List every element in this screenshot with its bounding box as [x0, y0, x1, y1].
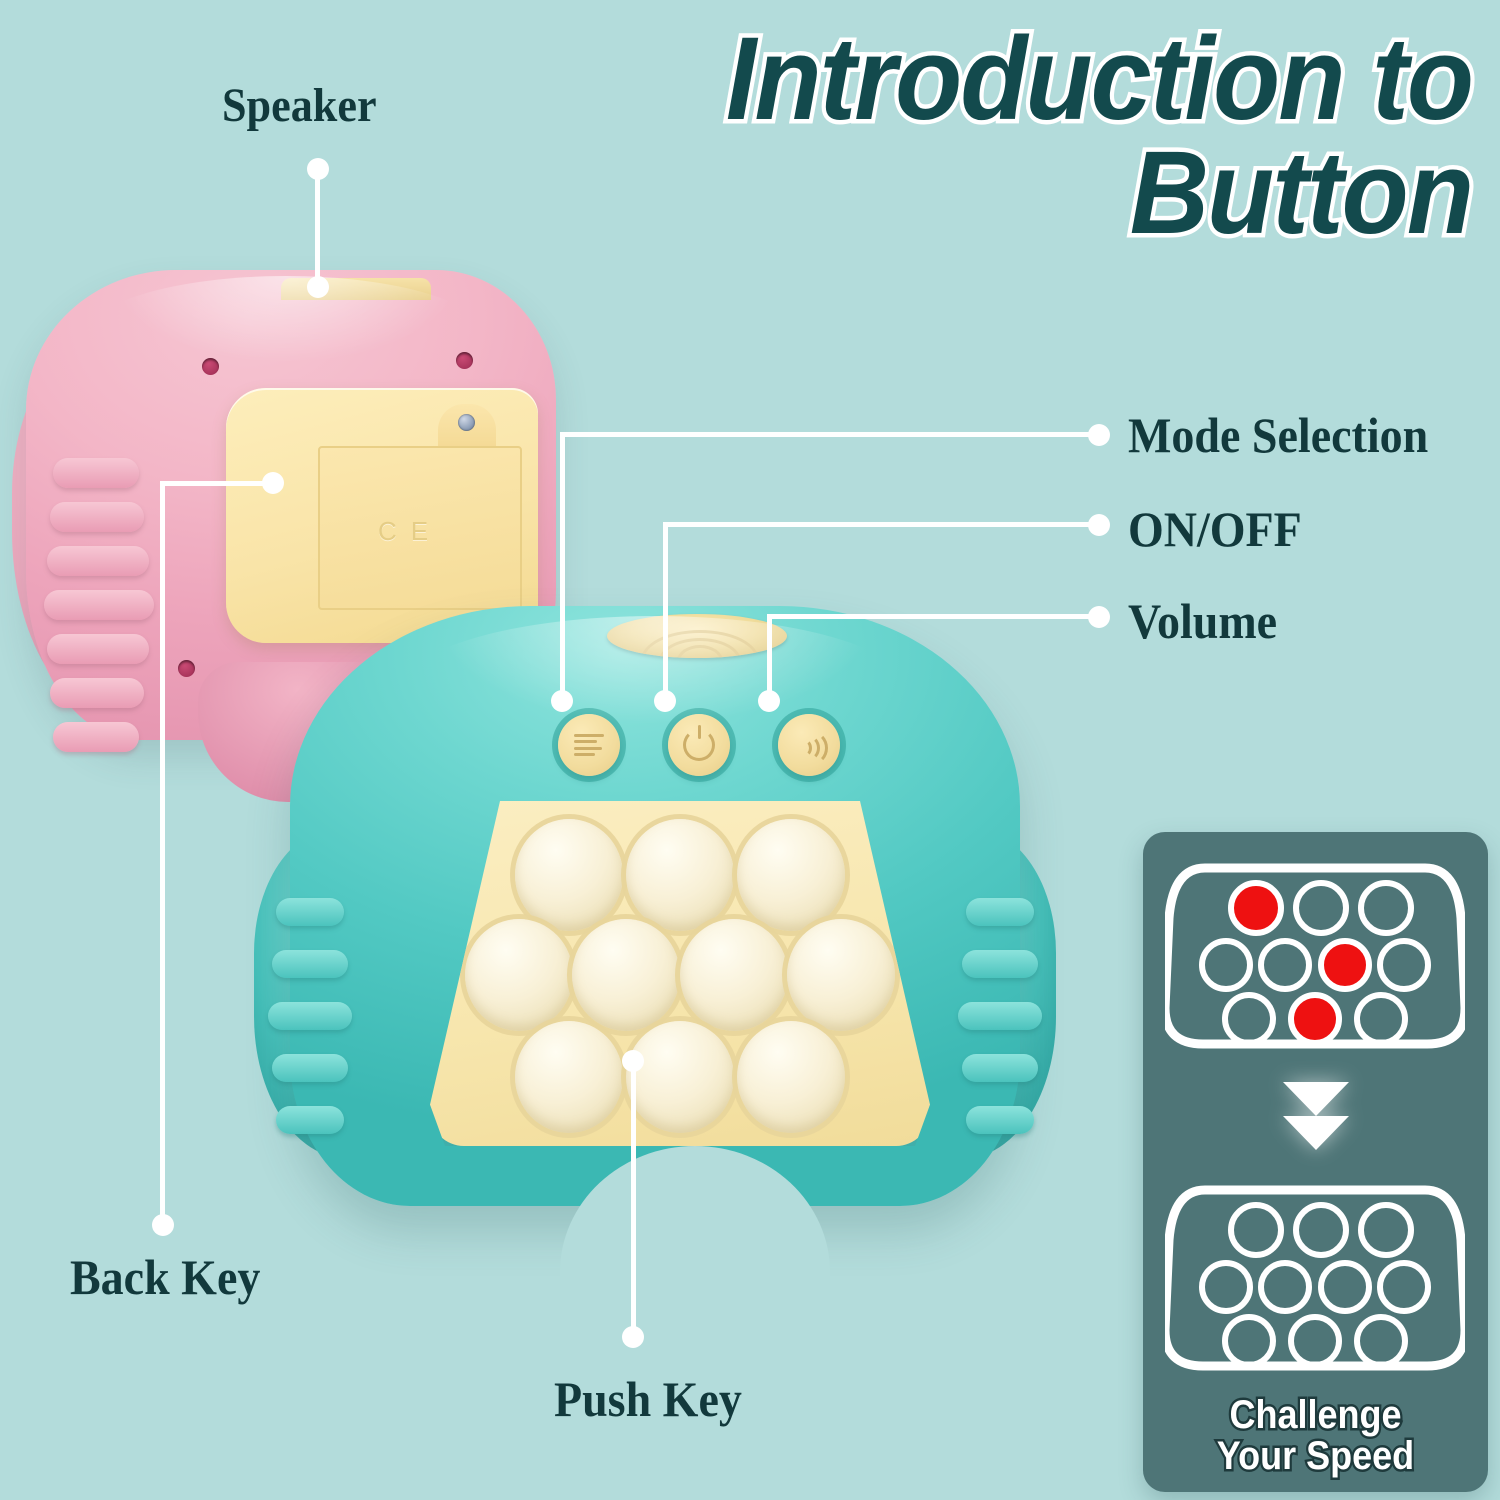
grid-bubble [1228, 1202, 1284, 1258]
grid-bubble [1293, 880, 1349, 936]
callout-label-speaker: Speaker [222, 78, 377, 133]
screw-icon [458, 414, 475, 431]
leader-line-mode-h [560, 432, 1100, 437]
leader-line-speaker [315, 168, 320, 286]
panel-caption-line-1: Challenge [1160, 1395, 1471, 1437]
grid-bubble [1377, 938, 1431, 992]
leader-dot-backkey-end [152, 1214, 174, 1236]
ce-marking: CE [378, 516, 442, 547]
double-chevron-down-icon [1283, 1082, 1349, 1168]
callout-label-mode-selection: Mode Selection [1128, 406, 1428, 464]
popit-bubble[interactable] [465, 919, 573, 1031]
leader-dot-onoff-end [1088, 514, 1110, 536]
popit-bubble[interactable] [787, 919, 895, 1031]
leader-dot-pushkey-end [622, 1326, 644, 1348]
popit-bubble[interactable] [626, 819, 734, 931]
grip-rib [962, 950, 1038, 978]
grid-bubble [1199, 938, 1253, 992]
grid-bubble [1258, 938, 1312, 992]
popit-bubble[interactable] [572, 919, 680, 1031]
title-line-2: Button [542, 136, 1472, 250]
leader-dot-speaker-end [307, 276, 329, 298]
grip-rib [276, 1106, 344, 1134]
grid-diagram-lit [1165, 858, 1465, 1053]
grid-bubble [1358, 1202, 1414, 1258]
grid-bubble-lit [1288, 992, 1342, 1046]
grid-bubble [1377, 1260, 1431, 1314]
grip-rib [50, 502, 144, 532]
grip-rib [966, 898, 1034, 926]
popit-pad[interactable] [430, 801, 930, 1146]
power-icon [683, 729, 715, 761]
grip-rib [47, 634, 149, 664]
leader-dot-volume-end [1088, 606, 1110, 628]
grip-rib [47, 546, 149, 576]
popit-bubble[interactable] [515, 1021, 623, 1133]
screw-hole [456, 352, 473, 369]
grip-rib [53, 722, 139, 752]
menu-icon [574, 734, 604, 756]
leader-line-backkey-v [160, 481, 165, 1223]
grid-bubble [1258, 1260, 1312, 1314]
mode-selection-button[interactable] [558, 714, 620, 776]
grid-bubble [1318, 1260, 1372, 1314]
leader-line-pushkey [631, 1060, 636, 1330]
page-title: Introduction to Button [542, 22, 1472, 251]
grip-rib [966, 1106, 1034, 1134]
leader-line-volume-v [767, 614, 772, 698]
grid-bubble [1358, 880, 1414, 936]
screw-hole [202, 358, 219, 375]
popit-bubble[interactable] [737, 819, 845, 931]
teal-bottom-notch [560, 1146, 830, 1286]
power-button[interactable] [668, 714, 730, 776]
popit-bubble[interactable] [626, 1021, 734, 1133]
grid-bubble [1199, 1260, 1253, 1314]
leader-dot-mode-end [1088, 424, 1110, 446]
speaker-grille [607, 614, 787, 658]
leader-line-onoff-h [663, 522, 1100, 527]
grid-bubble [1288, 1314, 1342, 1368]
leader-line-mode-v [560, 432, 565, 698]
grip-rib [44, 590, 154, 620]
grid-bubble [1354, 992, 1408, 1046]
grid-bubble [1222, 1314, 1276, 1368]
callout-label-back-key: Back Key [70, 1248, 260, 1306]
screw-hole [178, 660, 195, 677]
title-line-1: Introduction to [726, 13, 1472, 145]
popit-bubble[interactable] [680, 919, 788, 1031]
grip-rib [962, 1054, 1038, 1082]
grip-rib [53, 458, 139, 488]
grid-bubble [1222, 992, 1276, 1046]
callout-label-on-off: ON/OFF [1128, 500, 1302, 558]
grid-bubble-lit [1228, 880, 1284, 936]
grip-rib [276, 898, 344, 926]
device-front-view [250, 578, 1060, 1278]
popit-bubble[interactable] [515, 819, 623, 931]
volume-button[interactable] [778, 714, 840, 776]
grid-bubble [1354, 1314, 1408, 1368]
infographic-canvas: Introduction to Button CE [0, 0, 1500, 1500]
popit-bubble[interactable] [737, 1021, 845, 1133]
grid-bubble [1293, 1202, 1349, 1258]
speaker-slot [281, 278, 431, 300]
speaker-wave-icon [794, 732, 824, 758]
panel-caption: Challenge Your Speed [1160, 1395, 1471, 1478]
grip-rib [958, 1002, 1042, 1030]
leader-line-backkey-h [160, 481, 272, 486]
grip-rib [272, 950, 348, 978]
challenge-panel: Challenge Your Speed [1143, 832, 1488, 1492]
grid-bubble-lit [1318, 938, 1372, 992]
panel-caption-line-2: Your Speed [1160, 1436, 1471, 1478]
grip-rib [50, 678, 144, 708]
leader-line-onoff-v [663, 522, 668, 698]
callout-label-volume: Volume [1128, 592, 1277, 650]
grip-rib [268, 1002, 352, 1030]
grip-rib [272, 1054, 348, 1082]
leader-line-volume-h [767, 614, 1100, 619]
callout-label-push-key: Push Key [554, 1370, 742, 1428]
grid-diagram-empty [1165, 1180, 1465, 1375]
